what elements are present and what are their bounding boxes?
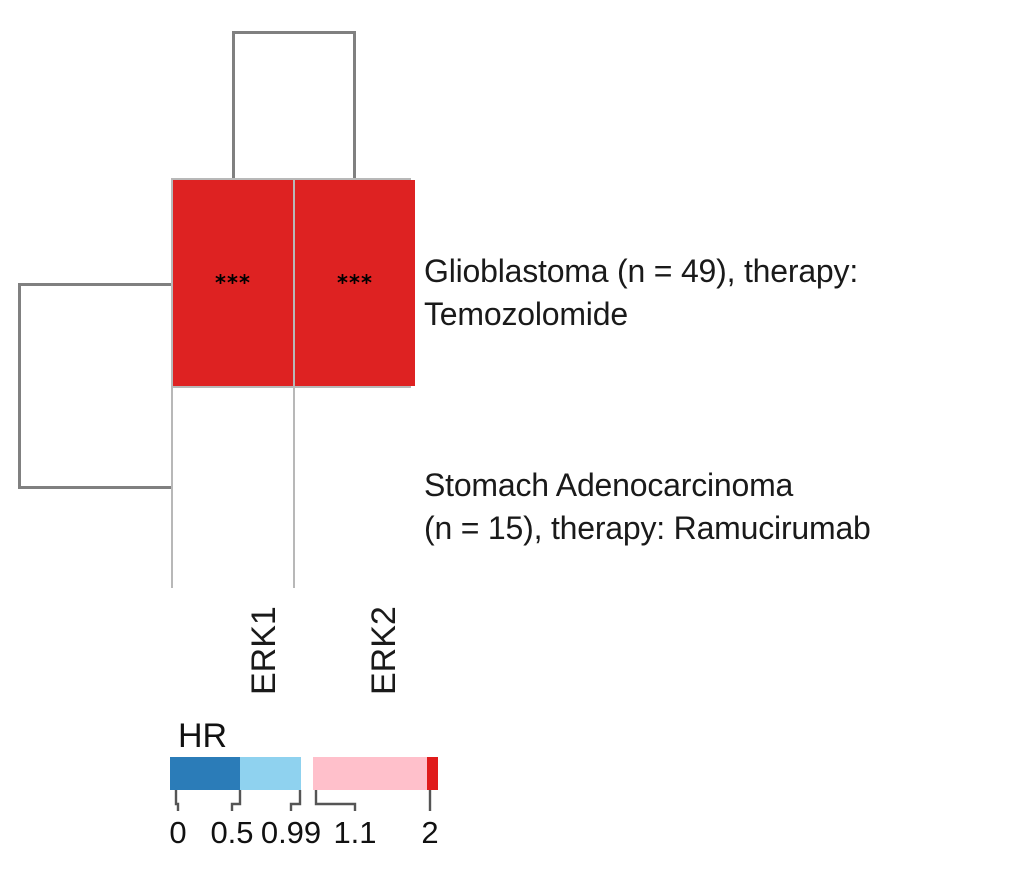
heatmap-cell-glioblastoma-erk1[interactable]: *** [173, 180, 293, 386]
column-label-erk1: ERK1 [245, 606, 284, 695]
legend-tick-connector-2 [291, 790, 300, 811]
legend-tick-label-0: 0 [169, 815, 186, 851]
legend-color-bar[interactable] [170, 757, 438, 790]
heatmap-cell-stomach-erk2[interactable] [295, 388, 415, 592]
legend-tick-label-1.1: 1.1 [333, 815, 376, 851]
legend-tick-connector-1 [232, 790, 240, 811]
legend-segment-0 [170, 757, 240, 790]
figure-canvas: *** *** ERK1 ERK2 Glioblastoma (n = 49),… [0, 0, 1032, 877]
legend-title: HR [178, 718, 227, 754]
heatmap-cell-stomach-erk1[interactable] [173, 388, 293, 592]
significance-stars: *** [337, 273, 373, 294]
legend-segment-2 [313, 757, 427, 790]
heatmap-cell-glioblastoma-erk2[interactable]: *** [295, 180, 415, 386]
column-dendrogram [232, 31, 356, 178]
row-label-stomach-adenocarcinoma: Stomach Adenocarcinoma (n = 15), therapy… [424, 464, 871, 550]
legend-segment-1 [240, 757, 301, 790]
column-label-erk2: ERK2 [365, 606, 404, 695]
legend-tick-label-2: 2 [421, 815, 438, 851]
legend-tick-connector-0 [176, 790, 178, 811]
legend-segment-3 [427, 757, 438, 790]
heatmap-grid: *** *** [171, 178, 411, 588]
legend-tick-label-0.5: 0.5 [210, 815, 253, 851]
significance-stars: *** [215, 273, 251, 294]
row-dendrogram [18, 283, 171, 489]
row-label-glioblastoma: Glioblastoma (n = 49), therapy: Temozolo… [424, 250, 858, 336]
legend-tick-label-0.99: 0.99 [261, 815, 321, 851]
legend-tick-connector-3 [316, 790, 355, 811]
